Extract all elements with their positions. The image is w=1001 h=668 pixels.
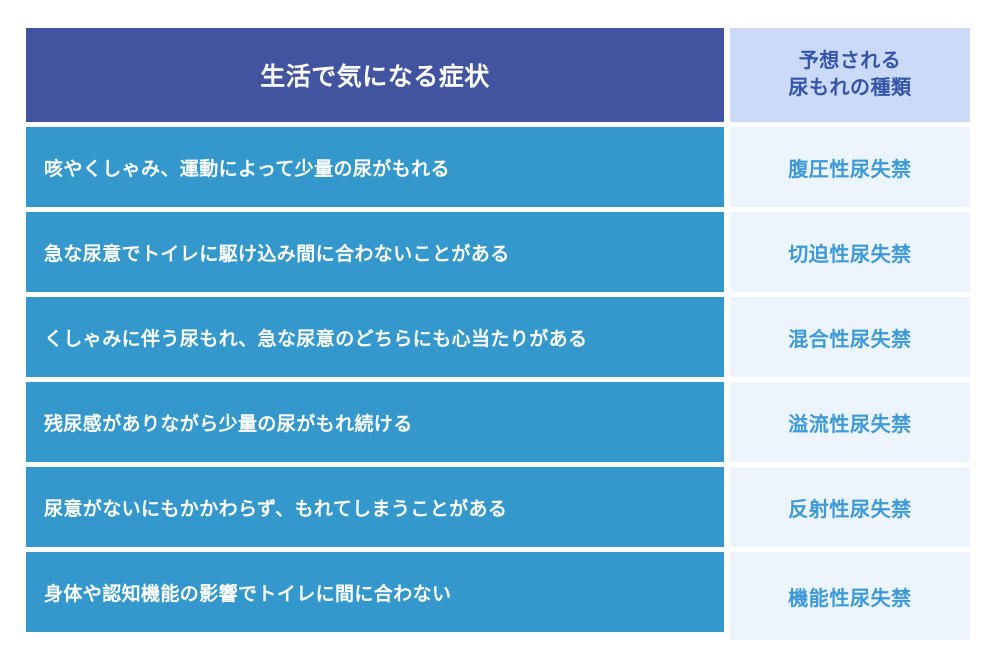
table: 生活で気になる症状 予想される 尿もれの種類 咳やくしゃみ、運動によって少量の尿… xyxy=(26,28,970,632)
symptom-text: 残尿感がありながら少量の尿がもれ続ける xyxy=(44,409,413,436)
type-text: 反射性尿失禁 xyxy=(788,493,912,522)
cell-type: 機能性尿失禁 xyxy=(730,552,970,640)
type-text: 機能性尿失禁 xyxy=(788,582,912,611)
symptom-text: くしゃみに伴う尿もれ、急な尿意のどちらにも心当たりがある xyxy=(44,324,587,351)
incontinence-type-table: 生活で気になる症状 予想される 尿もれの種類 咳やくしゃみ、運動によって少量の尿… xyxy=(26,28,970,632)
symptom-text: 急な尿意でトイレに駆け込み間に合わないことがある xyxy=(44,239,510,266)
table-row: 残尿感がありながら少量の尿がもれ続ける 溢流性尿失禁 xyxy=(26,382,970,462)
cell-symptom: くしゃみに伴う尿もれ、急な尿意のどちらにも心当たりがある xyxy=(26,297,724,377)
cell-symptom: 身体や認知機能の影響でトイレに間に合わない xyxy=(26,552,724,632)
header-type-label-line2: 尿もれの種類 xyxy=(789,75,912,102)
header-cell-symptom: 生活で気になる症状 xyxy=(26,28,724,122)
table-row: 身体や認知機能の影響でトイレに間に合わない 機能性尿失禁 xyxy=(26,552,970,632)
cell-type: 溢流性尿失禁 xyxy=(730,382,970,462)
cell-symptom: 急な尿意でトイレに駆け込み間に合わないことがある xyxy=(26,212,724,292)
header-cell-type: 予想される 尿もれの種類 xyxy=(730,28,970,122)
cell-type: 腹圧性尿失禁 xyxy=(730,127,970,207)
cell-symptom: 残尿感がありながら少量の尿がもれ続ける xyxy=(26,382,724,462)
cell-symptom: 尿意がないにもかかわらず、もれてしまうことがある xyxy=(26,467,724,547)
header-type-label: 予想される 尿もれの種類 xyxy=(789,48,912,102)
table-row: 咳やくしゃみ、運動によって少量の尿がもれる 腹圧性尿失禁 xyxy=(26,127,970,207)
table-header-row: 生活で気になる症状 予想される 尿もれの種類 xyxy=(26,28,970,122)
type-text: 腹圧性尿失禁 xyxy=(788,153,912,182)
symptom-text: 尿意がないにもかかわらず、もれてしまうことがある xyxy=(44,494,507,521)
header-symptom-label: 生活で気になる症状 xyxy=(260,57,490,93)
cell-type: 反射性尿失禁 xyxy=(730,467,970,547)
type-text: 切迫性尿失禁 xyxy=(788,238,912,267)
cell-type: 混合性尿失禁 xyxy=(730,297,970,377)
cell-type: 切迫性尿失禁 xyxy=(730,212,970,292)
symptom-text: 咳やくしゃみ、運動によって少量の尿がもれる xyxy=(44,154,450,181)
table-row: 急な尿意でトイレに駆け込み間に合わないことがある 切迫性尿失禁 xyxy=(26,212,970,292)
type-text: 混合性尿失禁 xyxy=(788,323,912,352)
cell-symptom: 咳やくしゃみ、運動によって少量の尿がもれる xyxy=(26,127,724,207)
type-text: 溢流性尿失禁 xyxy=(788,408,912,437)
header-type-label-line1: 予想される xyxy=(789,48,912,75)
table-row: 尿意がないにもかかわらず、もれてしまうことがある 反射性尿失禁 xyxy=(26,467,970,547)
symptom-text: 身体や認知機能の影響でトイレに間に合わない xyxy=(44,579,451,606)
table-row: くしゃみに伴う尿もれ、急な尿意のどちらにも心当たりがある 混合性尿失禁 xyxy=(26,297,970,377)
